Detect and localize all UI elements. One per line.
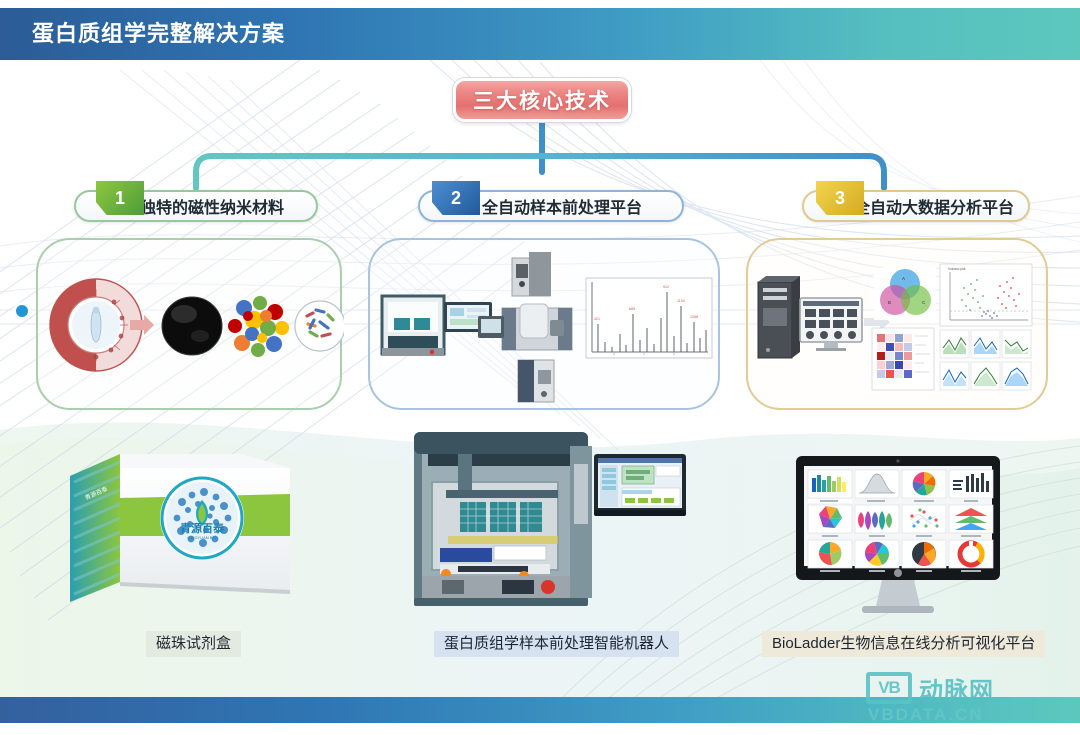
reagent-kit-box: 青源百泰 青源百泰 QINGYUAN BIO [64,440,306,620]
header-bar: 蛋白质组学完整解决方案 [0,8,1080,60]
heatmap [872,328,934,390]
poster-canvas: 蛋白质组学完整解决方案 三大核心技术 独特的磁性纳米材料 1 全自动样本前处理平… [0,0,1080,735]
product-caption-3: BioLadder生物信息在线分析可视化平台 [762,631,1045,657]
pillar-label-1-text: 独特的磁性纳米材料 [140,194,284,218]
pretreatment-robot [398,424,688,616]
product-caption-2: 蛋白质组学样本前处理智能机器人 [434,631,679,657]
red-circular-diagram [50,279,154,371]
mass-spectrum-chart: 421685 9121104 1288 [586,278,712,358]
watermark-domain: VBDATA.CN [868,705,994,725]
svg-text:B: B [888,300,891,305]
core-technology-badge: 三大核心技术 [453,78,631,122]
bioladder-monitor [790,450,1006,618]
venn-diagram: ABC [874,268,936,320]
watermark-brand: 动脉网 [919,671,994,706]
svg-text:A: A [902,276,905,281]
svg-text:1104: 1104 [677,299,685,303]
accent-dot [16,305,28,317]
big-data-analysis-artwork: ABC Volcano plot [752,250,1044,402]
svg-text:685: 685 [629,307,635,311]
product-caption-1: 磁珠试剂盒 [146,631,241,657]
trend-line-grid [940,330,1031,390]
svg-text:912: 912 [663,285,669,289]
svg-text:421: 421 [594,317,600,321]
box-brand-sub: QINGYUAN BIO [187,535,216,540]
black-nanoparticle [162,297,222,355]
peptide-circle [295,301,344,351]
watermark: VB 动脉网 VBDATA.CN [866,672,994,725]
pillar-number-2: 2 [432,181,480,215]
page-title: 蛋白质组学完整解决方案 [32,8,285,60]
watermark-mark: VB [866,672,912,704]
svg-text:C: C [922,300,925,305]
pillar-number-1-text: 1 [115,188,125,209]
pillar-number-2-text: 2 [451,188,461,209]
pillar-label-3-text: 全自动大数据分析平台 [854,194,1014,218]
core-technology-label: 三大核心技术 [473,85,611,115]
pillar-label-2-text: 全自动样本前处理平台 [482,194,642,218]
pillar-number-3: 3 [816,181,864,215]
magnetic-nanomaterial-artwork [44,258,344,392]
pillar-number-1: 1 [96,181,144,215]
pillar-number-3-text: 3 [835,188,845,209]
sample-pretreatment-artwork: 421685 9121104 1288 [374,248,718,406]
server-tower [758,276,800,358]
svg-text:Volcano plot: Volcano plot [948,267,965,271]
protein-structure [228,295,290,357]
mass-spectrometer-stack [478,252,572,402]
box-brand-label: 青源百泰 [180,521,225,535]
volcano-plot: Volcano plot [940,264,1032,326]
svg-text:1288: 1288 [690,315,698,319]
liquid-handling-robot [382,296,492,356]
